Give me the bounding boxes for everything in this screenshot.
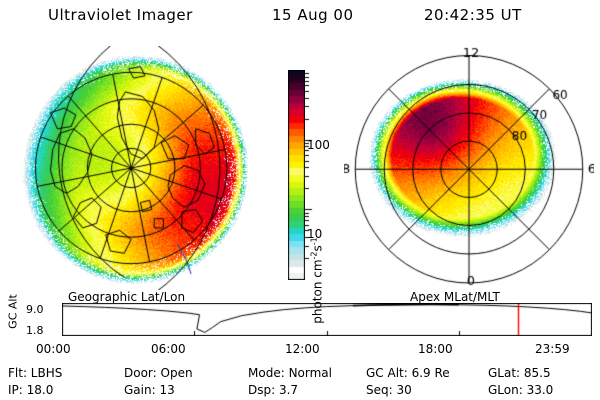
status-value: 33.0 [523,383,554,397]
geographic-aurora-image [8,46,270,290]
status-key: IP: [8,383,23,397]
observation-time: 20:42:35 UT [424,6,522,24]
time-tick-0600: 06:00 [151,342,186,356]
status-key: Flt: [8,366,27,380]
apex-panel-caption: Apex MLat/MLT [410,290,500,304]
colorbar-ticks [305,69,319,281]
status-value: 3.7 [275,383,298,397]
header-bar: Ultraviolet Imager 15 Aug 00 20:42:35 UT [0,6,600,32]
status-value: Open [157,366,193,380]
status-gain: Gain: 13 [124,383,175,397]
status-gcalt: GC Alt: 6.9 Re [366,366,450,380]
status-key: Mode: [248,366,285,380]
gc-alt-tick-max: 9.0 [26,303,44,316]
geographic-panel-caption: Geographic Lat/Lon [68,290,185,304]
status-key: Door: [124,366,157,380]
status-value: 85.5 [520,366,551,380]
orbit-altitude-trace [62,303,592,336]
status-value: 18.0 [23,383,54,397]
observation-date: 15 Aug 00 [272,6,354,24]
gc-alt-tick-min: 1.8 [26,324,44,337]
status-value: LBHS [27,366,62,380]
status-value: 30 [393,383,412,397]
status-value: Normal [285,366,332,380]
status-mode: Mode: Normal [248,366,332,380]
time-tick-1800: 18:00 [418,342,453,356]
status-key: GLat: [488,366,520,380]
status-key: Seq: [366,383,393,397]
colorbar-title-wrap: photon cm-2s-1 [278,105,292,235]
gc-alt-axis-label: GC Alt [7,288,20,336]
status-glon: GLon: 33.0 [488,383,553,397]
apex-aurora-polar-plot [344,44,594,292]
status-key: Dsp: [248,383,275,397]
status-door: Door: Open [124,366,193,380]
status-key: GC Alt: [366,366,408,380]
status-flt: Flt: LBHS [8,366,62,380]
status-glat: GLat: 85.5 [488,366,551,380]
status-key: Gain: [124,383,156,397]
time-tick-0000: 00:00 [36,342,71,356]
instrument-title: Ultraviolet Imager [48,6,193,24]
status-ip: IP: 18.0 [8,383,53,397]
time-tick-1200: 12:00 [285,342,320,356]
status-value: 13 [156,383,175,397]
status-footer: Flt: LBHS Door: Open Mode: Normal GC Alt… [0,366,600,400]
time-tick-2359: 23:59 [535,342,570,356]
status-value: 6.9 Re [408,366,450,380]
gc-alt-label-wrap: GC Alt [2,296,24,338]
uvi-screenshot-root: Ultraviolet Imager 15 Aug 00 20:42:35 UT… [0,0,600,400]
status-dsp: Dsp: 3.7 [248,383,298,397]
status-seq: Seq: 30 [366,383,412,397]
status-key: GLon: [488,383,523,397]
